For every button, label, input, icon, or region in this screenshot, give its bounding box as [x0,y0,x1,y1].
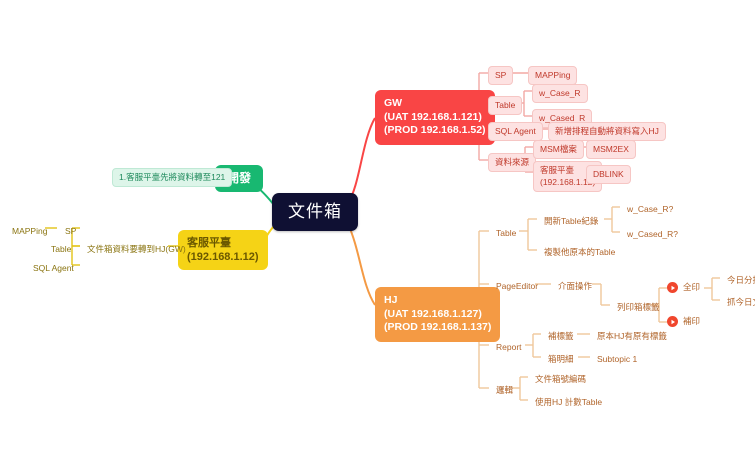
node-hj-pageeditor[interactable]: PageEditor [489,277,545,296]
node-hj-report-relabel-label: 補標籤 [548,331,574,341]
node-hj-report-boxdetail[interactable]: 箱明細 [541,350,581,369]
node-hj-logic-counttable[interactable]: 使用HJ 計數Table [528,393,609,412]
node-hj-print-label[interactable]: 列印箱標籤 [610,298,667,317]
node-gw-datasource-dblink[interactable]: DBLINK [586,165,631,184]
node-dev-note[interactable]: 1.客服平臺先將資料轉至121 [112,168,232,187]
node-hj-logic[interactable]: 邏輯 [489,381,520,400]
node-platform-item-table[interactable]: Table [44,240,78,259]
node-gw-datasource-msm-label: MSM檔案 [540,144,577,154]
node-gw-sp-label: SP [495,70,506,80]
node-gw-datasource-dblink-label: DBLINK [593,169,624,179]
node-platform-line1: 客服平臺 [187,236,259,250]
node-hj-print-all-today-data-label: 抓今日文件箱資料 [727,297,755,307]
node-gw-line1: GW [384,97,486,111]
node-hj-logic-boxcode-label: 文件箱號編碼 [535,374,586,384]
node-hj-logic-boxcode[interactable]: 文件箱號編碼 [528,370,593,389]
node-hj-report-relabel-note[interactable]: 原本HJ有原有標籤 [590,327,674,346]
node-gw-sp[interactable]: SP [488,66,513,85]
node-gw-datasource-msm2ex-label: MSM2EX [593,144,629,154]
node-platform-item-sqlagent-label: SQL Agent [33,263,74,273]
node-hj-table-new-label: 開新Table紀錄 [544,216,598,226]
node-hj-logic-label: 邏輯 [496,385,513,395]
node-gw-sp-mapping[interactable]: MAPPing [528,66,577,85]
node-hj-report[interactable]: Report [489,338,529,357]
node-hj-print-all-label: 全印 [682,281,701,294]
node-gw-sqlagent-note[interactable]: 新增排程自動將資料寫入HJ [548,122,666,141]
node-hj-pageeditor-ui-label: 介面操作 [558,281,592,291]
node-hj-table-new-wcasedr[interactable]: w_Cased_R? [620,225,685,244]
node-hj-table-new-wcaser[interactable]: w_Case_R? [620,200,680,219]
node-hj-table-new[interactable]: 開新Table紀錄 [537,212,605,231]
node-hj-table-label: Table [496,228,516,238]
node-hj-report-boxdetail-sub[interactable]: Subtopic 1 [590,350,644,369]
node-hj-print-label-text: 列印箱標籤 [617,302,660,312]
node-hj-print-all-today-store[interactable]: 今日分撥目的門市 [720,271,755,290]
node-hj-print-all-today-store-label: 今日分撥目的門市 [727,275,755,285]
node-platform-item-sp[interactable]: SP [58,222,83,241]
node-hj-print-all[interactable]: 全印 [667,281,701,294]
node-hj-pageeditor-ui[interactable]: 介面操作 [551,277,599,296]
node-hj-report-relabel-note-label: 原本HJ有原有標籤 [597,331,667,341]
node-hj-report-relabel[interactable]: 補標籤 [541,327,581,346]
play-badge-icon [667,316,678,327]
node-hj-report-label: Report [496,342,522,352]
node-gw-datasource-label: 資料來源 [495,157,529,167]
node-platform-note[interactable]: 文件箱資料要轉到HJ(GW) [80,240,193,259]
node-hj-report-boxdetail-sub-label: Subtopic 1 [597,354,637,364]
node-hj-pageeditor-label: PageEditor [496,281,538,291]
node-hj-line2: (UAT 192.168.1.127) [384,308,491,322]
node-platform-line2: (192.168.1.12) [187,250,259,264]
node-platform-item-sqlagent[interactable]: SQL Agent [26,259,81,278]
node-hj-table-copy-label: 複製他原本的Table [544,247,615,257]
node-gw-datasource-msm[interactable]: MSM檔案 [533,140,584,159]
node-hj-line3: (PROD 192.168.1.137) [384,321,491,335]
node-platform-item-sp-label: SP [65,226,76,236]
node-hj-table-copy[interactable]: 複製他原本的Table [537,243,622,262]
node-hj-report-boxdetail-label: 箱明細 [548,354,574,364]
node-hj[interactable]: HJ (UAT 192.168.1.127) (PROD 192.168.1.1… [375,287,500,342]
node-hj-line1: HJ [384,294,491,308]
node-gw-line3: (PROD 192.168.1.52) [384,124,486,138]
node-hj-print-all-today-data[interactable]: 抓今日文件箱資料 [720,293,755,312]
node-hj-table-new-wcaser-label: w_Case_R? [627,204,673,214]
node-gw-line2: (UAT 192.168.1.121) [384,111,486,125]
node-gw-sqlagent-label: SQL Agent [495,126,536,136]
node-gw-sqlagent[interactable]: SQL Agent [488,122,543,141]
node-hj-print-reprint-label: 補印 [682,315,701,328]
node-dev-note-label: 1.客服平臺先將資料轉至121 [119,172,225,182]
node-gw-table-wcaser-label: w_Case_R [539,88,581,98]
node-platform-note-label: 文件箱資料要轉到HJ(GW) [87,244,186,254]
node-gw-sqlagent-note-label: 新增排程自動將資料寫入HJ [555,126,659,136]
node-platform-item-table-label: Table [51,244,71,254]
node-hj-print-reprint[interactable]: 補印 [667,315,701,328]
central-node[interactable]: 文件箱 [272,193,358,231]
node-gw-table[interactable]: Table [488,96,522,115]
node-gw-datasource-msm2ex[interactable]: MSM2EX [586,140,636,159]
node-hj-table[interactable]: Table [489,224,523,243]
node-platform-item-mapping[interactable]: MAPPing [5,222,54,241]
node-gw-datasource[interactable]: 資料來源 [488,153,536,172]
node-gw-table-wcaser[interactable]: w_Case_R [532,84,588,103]
node-gw-sp-mapping-label: MAPPing [535,70,570,80]
central-node-label: 文件箱 [288,202,342,221]
node-hj-table-new-wcasedr-label: w_Cased_R? [627,229,678,239]
node-hj-logic-counttable-label: 使用HJ 計數Table [535,397,602,407]
node-gw[interactable]: GW (UAT 192.168.1.121) (PROD 192.168.1.5… [375,90,495,145]
node-gw-table-label: Table [495,100,515,110]
node-platform-item-mapping-label: MAPPing [12,226,47,236]
mindmap-canvas: 文件箱 開發 1.客服平臺先將資料轉至121 客服平臺 (192.168.1.1… [0,0,755,467]
play-badge-icon [667,282,678,293]
